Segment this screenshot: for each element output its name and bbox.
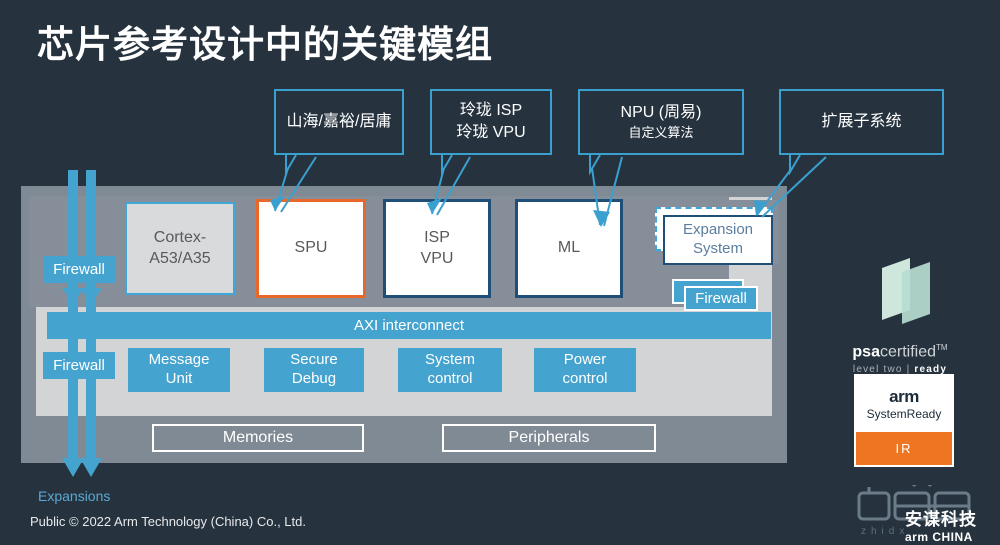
page-title: 芯片参考设计中的关键模组 [37, 14, 493, 68]
block-secure-debug[interactable]: Secure Debug [264, 348, 364, 392]
arm-wordmark: arm [889, 387, 919, 407]
footer-copyright: Public © 2022 Arm Technology (China) Co.… [30, 514, 306, 529]
callout-expansion: 扩展子系统 [779, 89, 944, 155]
callout-spu-line1: 山海/嘉裕/居庸 [287, 111, 392, 133]
block-secure-debug-line1: Secure [290, 351, 338, 370]
psa-logo-icon [840, 252, 960, 334]
block-message-unit-line1: Message [149, 351, 210, 370]
block-cortex-line1: Cortex- [149, 228, 210, 249]
block-isp-vpu[interactable]: ISP VPU [383, 199, 491, 298]
callout-spu: 山海/嘉裕/居庸 [274, 89, 404, 155]
psa-wordmark: psacertifiedTM [840, 343, 960, 361]
block-expansion-line1: Expansion [683, 221, 753, 240]
block-power-control[interactable]: Power control [534, 348, 636, 392]
expansions-label: Expansions [38, 488, 110, 504]
psa-word-bold: psa [852, 343, 880, 360]
block-peripherals[interactable]: Peripherals [442, 424, 656, 452]
block-spu[interactable]: SPU [256, 199, 366, 298]
block-secure-debug-line2: Debug [292, 370, 336, 389]
block-isp-line1: ISP [421, 228, 454, 249]
arm-systemready-band: IR [856, 432, 952, 465]
firewall-left-bottom-label: Firewall [53, 357, 105, 374]
arm-china-brand: 安谋科技 arm CHINA [905, 505, 977, 544]
block-spu-label: SPU [295, 238, 328, 259]
arm-systemready-badge: arm SystemReady IR [854, 374, 954, 467]
svg-text:zhidx: zhidx [861, 526, 909, 537]
callout-npu-sub: 自定义算法 [628, 124, 693, 142]
firewall-expansion-label: Firewall [695, 290, 747, 307]
block-memories-label: Memories [223, 429, 293, 447]
callout-expansion-line1: 扩展子系统 [821, 111, 901, 133]
block-ml[interactable]: ML [515, 199, 623, 298]
block-ml-label: ML [558, 238, 580, 259]
block-isp-line2: VPU [421, 249, 454, 270]
block-message-unit[interactable]: Message Unit [128, 348, 230, 392]
axi-interconnect-label: AXI interconnect [354, 317, 464, 334]
callout-isp-vpu-line1: 玲珑 ISP [460, 100, 522, 122]
psa-tm: TM [936, 343, 948, 352]
arm-china-cn: 安谋科技 [905, 505, 977, 530]
callout-npu-line1: NPU (周易) [621, 102, 702, 124]
block-cortex-a53-a35[interactable]: Cortex- A53/A35 [125, 202, 235, 295]
block-system-control[interactable]: System control [398, 348, 502, 392]
block-memories[interactable]: Memories [152, 424, 364, 452]
slide-root: 芯片参考设计中的关键模组 山海/嘉裕/居庸 玲珑 ISP 玲珑 VPU NPU … [0, 0, 1000, 545]
callout-isp-vpu: 玲珑 ISP 玲珑 VPU [430, 89, 552, 155]
axi-interconnect-bar: AXI interconnect [47, 312, 771, 339]
arm-systemready-top: arm SystemReady [856, 376, 952, 432]
firewall-left-bottom[interactable]: Firewall [43, 352, 115, 379]
block-cortex-line2: A53/A35 [149, 249, 210, 270]
block-power-control-line2: control [562, 370, 607, 389]
block-system-control-line1: System [425, 351, 475, 370]
block-expansion-system[interactable]: Expansion System [663, 215, 773, 265]
firewall-left-top[interactable]: Firewall [43, 256, 115, 283]
block-power-control-line1: Power [564, 351, 607, 370]
firewall-left-top-label: Firewall [53, 261, 105, 278]
arm-china-en: arm CHINA [905, 530, 977, 544]
block-peripherals-label: Peripherals [509, 429, 590, 447]
psa-word-light: certified [880, 343, 936, 360]
firewall-expansion-front[interactable]: Firewall [684, 286, 758, 311]
psa-certified-badge: psacertifiedTM level two | ready [840, 252, 960, 375]
block-system-control-line2: control [427, 370, 472, 389]
callout-npu: NPU (周易) 自定义算法 [578, 89, 744, 155]
callout-isp-vpu-line2: 玲珑 VPU [456, 122, 525, 144]
block-expansion-line2: System [693, 240, 743, 259]
systemready-wordmark: SystemReady [867, 407, 942, 421]
block-message-unit-line2: Unit [166, 370, 193, 389]
